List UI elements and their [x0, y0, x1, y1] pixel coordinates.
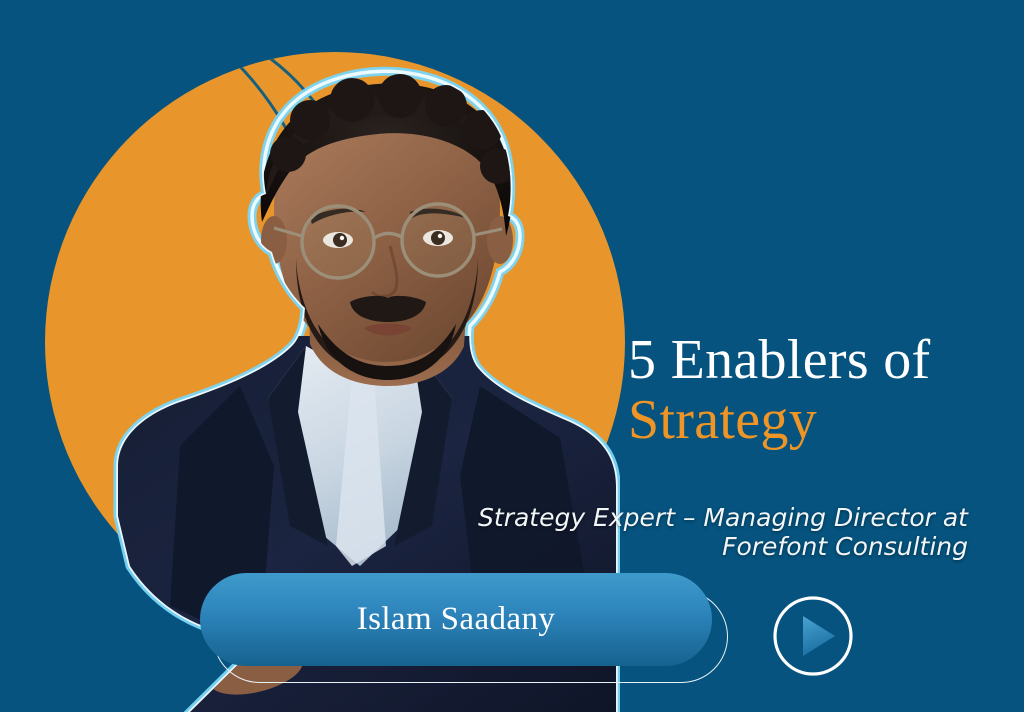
speaker-name-label: Islam Saadany	[357, 601, 556, 638]
speaker-role-subtitle: Strategy Expert – Managing Director at F…	[360, 503, 968, 561]
subtitle-line-1: Strategy Expert – Managing Director at	[360, 503, 968, 532]
subtitle-line-2: Forefont Consulting	[360, 532, 968, 561]
title-line-1: 5 Enablers of	[628, 332, 1024, 389]
play-button[interactable]	[772, 595, 854, 677]
play-triangle-icon	[803, 616, 835, 656]
title-line-2: Strategy	[628, 391, 1024, 450]
speaker-name-pill[interactable]: Islam Saadany	[200, 573, 712, 666]
presentation-slide: 5 Enablers of Strategy Strategy Expert –…	[0, 0, 1024, 712]
slide-title: 5 Enablers of Strategy	[628, 332, 1024, 450]
